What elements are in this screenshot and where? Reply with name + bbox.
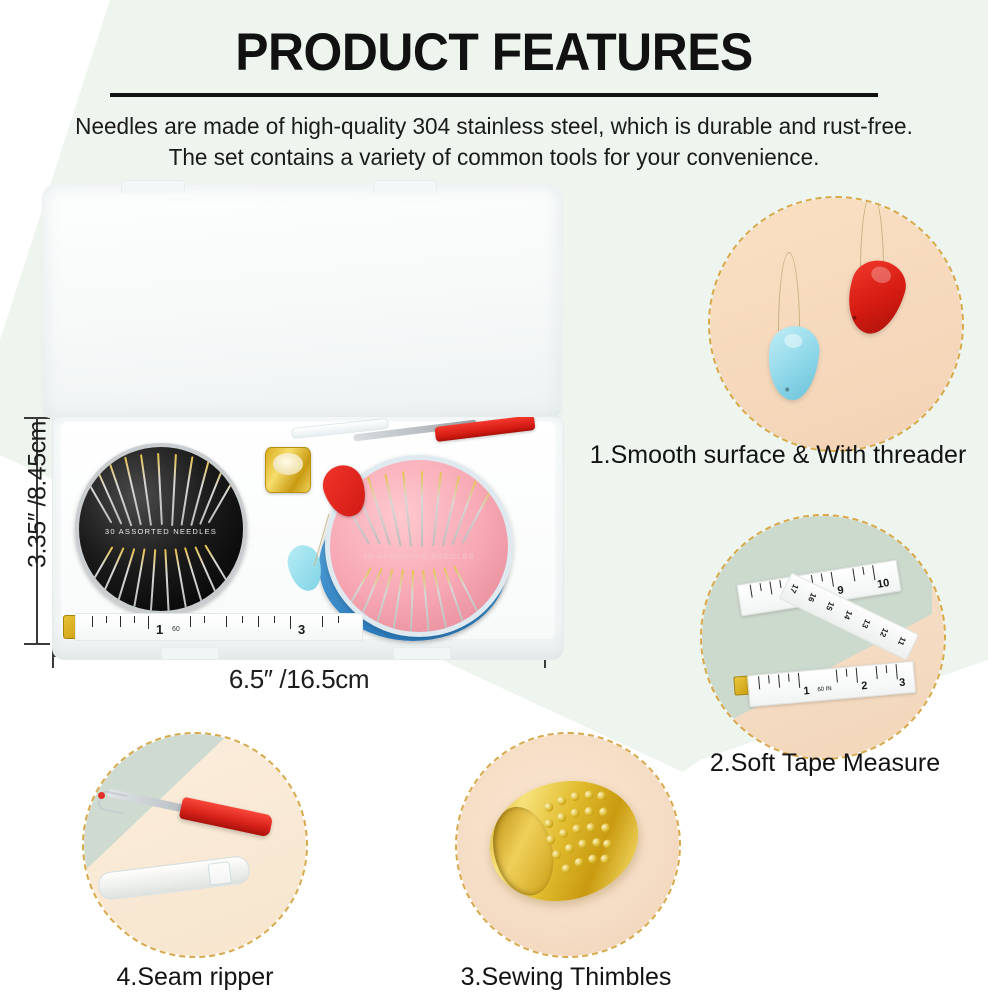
seam-ripper-clear-cap-tube xyxy=(97,855,251,901)
box-foot-left xyxy=(161,647,219,660)
blue-threader-hole xyxy=(785,387,789,391)
feature-circle-thimble xyxy=(455,732,681,958)
feature-label-1: 1.Smooth surface & With threader xyxy=(578,441,978,470)
tape-cm-11: 11 xyxy=(896,635,908,647)
tape-cm-17: 17 xyxy=(788,583,800,595)
tape-cm-15: 15 xyxy=(824,600,836,612)
tape-number-60: 60 xyxy=(172,626,180,633)
tape-inch-10: 10 xyxy=(876,577,890,591)
box-foot-right xyxy=(393,647,451,660)
seam-ripper-red-ball-tip xyxy=(98,792,105,799)
blue-needle-threader xyxy=(764,324,821,403)
sewing-kit-box: 30 ASSORTED NEEDLES xyxy=(42,180,562,670)
tape-inch-3: 3 xyxy=(899,677,906,689)
feature-label-2: 2.Soft Tape Measure xyxy=(660,749,988,778)
thimble-opening xyxy=(484,800,562,901)
seam-ripper-red-handle xyxy=(179,797,274,838)
tape-marking-60in: 60 IN xyxy=(817,686,832,693)
red-needle-threader xyxy=(838,253,912,340)
feature-circle-tape-measure: 8 9 10 17 16 15 14 13 12 11 xyxy=(700,514,946,760)
tape-inch-1: 1 xyxy=(803,685,810,697)
feature-circle-seam-ripper-photo xyxy=(84,734,306,956)
title-divider xyxy=(110,93,878,97)
lid-tab-left xyxy=(121,180,185,193)
feature-label-4: 4.Seam ripper xyxy=(70,963,320,992)
subtitle-line-2: The set contains a variety of common too… xyxy=(20,142,968,173)
feature-circle-seam-ripper xyxy=(82,732,308,958)
tape-cm-14: 14 xyxy=(842,609,854,621)
blue-threader-wire xyxy=(778,252,800,331)
tape-cm-13: 13 xyxy=(860,618,872,630)
black-case-label: 30 ASSORTED NEEDLES xyxy=(79,527,243,536)
header: PRODUCT FEATURES Needles are made of hig… xyxy=(0,0,988,172)
box-lid xyxy=(42,184,562,418)
feature-label-3: 3.Sewing Thimbles xyxy=(430,963,702,992)
feature-circle-tape-measure-photo: 8 9 10 17 16 15 14 13 12 11 xyxy=(702,516,944,758)
tape-number-1: 1 xyxy=(156,622,163,637)
black-needle-case: 30 ASSORTED NEEDLES xyxy=(75,443,247,615)
red-threader-hole xyxy=(852,315,857,320)
subtitle: Needles are made of high-quality 304 sta… xyxy=(20,111,968,172)
product-features-infographic: PRODUCT FEATURES Needles are made of hig… xyxy=(0,0,988,1000)
product-photo-area: 3.35″ /8.45cm 6.5″ /16.5cm xyxy=(0,180,600,700)
feature-circle-threader-photo xyxy=(710,198,962,450)
tape-measure-in-box: 1 60 3 xyxy=(75,613,363,641)
feature-circle-threader xyxy=(708,196,964,452)
page-title: PRODUCT FEATURES xyxy=(30,22,959,83)
tape-cm-16: 16 xyxy=(806,591,818,603)
tape-cm-12: 12 xyxy=(878,626,890,638)
sage-fabric-background-4 xyxy=(84,734,306,956)
subtitle-line-1: Needles are made of high-quality 304 sta… xyxy=(20,111,968,142)
tape-number-3: 3 xyxy=(298,622,305,637)
gold-thimble xyxy=(477,766,651,917)
box-base: 30 ASSORTED NEEDLES xyxy=(52,416,564,660)
tape-inch-2: 2 xyxy=(861,680,868,692)
gold-thimble-in-box xyxy=(265,447,311,493)
pink-case-label: 30 ASSORTED NEEDLES xyxy=(330,552,508,561)
lid-tab-right xyxy=(373,180,437,193)
feature-circle-thimble-photo xyxy=(457,734,679,956)
